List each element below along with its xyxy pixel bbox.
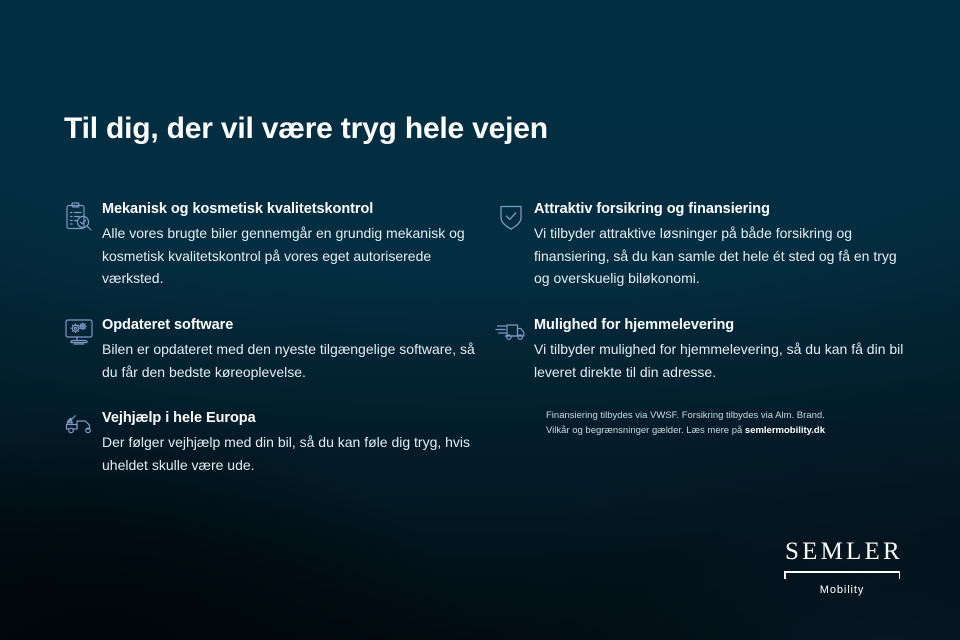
feature-body: Bilen er opdateret med den nyeste tilgæn…	[102, 338, 488, 383]
feature-item: Mulighed for hjemmelevering Vi tilbyder …	[488, 316, 912, 383]
disclaimer-line-2-text: Vilkår og begrænsninger gælder. Læs mere…	[546, 425, 745, 436]
disclaimer-line-2: Vilkår og begrænsninger gælder. Læs mere…	[546, 424, 912, 439]
feature-body: Der følger vejhjælp med din bil, så du k…	[102, 431, 488, 476]
logo-subtitle: Mobility	[782, 584, 902, 596]
disclaimer-line-1: Finansiering tilbydes via VWSF. Forsikri…	[546, 409, 912, 424]
logo-divider	[784, 571, 900, 581]
feature-title: Vejhjælp i hele Europa	[102, 410, 488, 426]
shield-check-icon	[488, 200, 534, 244]
feature-body: Vi tilbyder mulighed for hjemmelevering,…	[534, 338, 912, 383]
feature-title: Opdateret software	[102, 317, 488, 333]
semler-mobility-logo: SEMLER Mobility	[782, 539, 902, 596]
logo-wordmark: SEMLER	[782, 539, 902, 564]
feature-text: Attraktiv forsikring og finansiering Vi …	[534, 200, 912, 290]
slide-root: Til dig, der vil være tryg hele vejen	[0, 0, 960, 640]
page-title: Til dig, der vil være tryg hele vejen	[64, 112, 548, 146]
feature-item: Vejhjælp i hele Europa Der følger vejhjæ…	[56, 409, 488, 476]
feature-title: Mekanisk og kosmetisk kvalitetskontrol	[102, 201, 488, 217]
features-columns: Mekanisk og kosmetisk kvalitetskontrol A…	[56, 200, 912, 477]
disclaimer-link[interactable]: semlermobility.dk	[745, 425, 825, 436]
feature-body: Vi tilbyder attraktive løsninger på både…	[534, 222, 912, 290]
feature-item: Attraktiv forsikring og finansiering Vi …	[488, 200, 912, 290]
feature-text: Vejhjælp i hele Europa Der følger vejhjæ…	[102, 409, 488, 476]
feature-item: Mekanisk og kosmetisk kvalitetskontrol A…	[56, 200, 488, 290]
features-right-column: Attraktiv forsikring og finansiering Vi …	[488, 200, 912, 477]
feature-title: Mulighed for hjemmelevering	[534, 317, 912, 333]
feature-title: Attraktiv forsikring og finansiering	[534, 201, 912, 217]
feature-item: Opdateret software Bilen er opdateret me…	[56, 316, 488, 383]
slide-content: Til dig, der vil være tryg hele vejen	[0, 0, 960, 640]
feature-text: Opdateret software Bilen er opdateret me…	[102, 316, 488, 383]
features-left-column: Mekanisk og kosmetisk kvalitetskontrol A…	[56, 200, 488, 477]
monitor-gears-icon	[56, 316, 102, 360]
delivery-truck-icon	[488, 316, 534, 360]
feature-text: Mekanisk og kosmetisk kvalitetskontrol A…	[102, 200, 488, 290]
disclaimer: Finansiering tilbydes via VWSF. Forsikri…	[488, 409, 912, 438]
feature-body: Alle vores brugte biler gennemgår en gru…	[102, 222, 488, 290]
feature-text: Mulighed for hjemmelevering Vi tilbyder …	[534, 316, 912, 383]
tow-truck-icon	[56, 409, 102, 453]
clipboard-magnifier-icon	[56, 200, 102, 244]
